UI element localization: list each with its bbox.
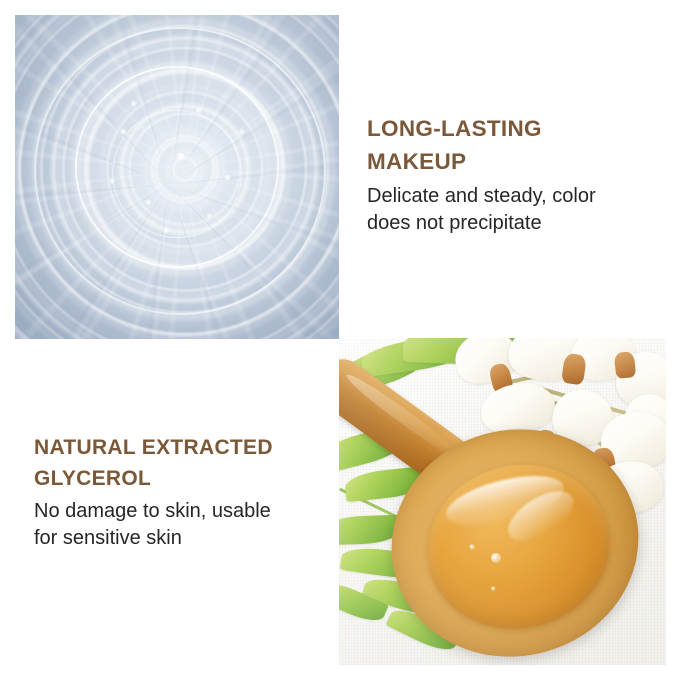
product-feature-infographic: LONG-LASTING MAKEUP Delicate and steady,… (0, 0, 679, 679)
feature-title: NATURAL EXTRACTED GLYCEROL (34, 432, 334, 494)
feature-block-natural-extracted-glycerol: NATURAL EXTRACTED GLYCEROL No damage to … (34, 432, 334, 553)
feature-description: Delicate and steady, color does not prec… (367, 183, 667, 237)
honey-bubble (491, 586, 496, 591)
water-ripple-photo (15, 15, 339, 339)
honey-pool (410, 446, 627, 648)
flower-bud (614, 351, 637, 379)
honey-bubble (490, 551, 502, 563)
water-vignette (15, 15, 339, 339)
feature-description: No damage to skin, usable for sensitive … (34, 498, 334, 552)
feature-block-long-lasting-makeup: LONG-LASTING MAKEUP Delicate and steady,… (367, 112, 667, 237)
feature-title: LONG-LASTING MAKEUP (367, 112, 667, 179)
honey-spoon-photo (339, 338, 666, 665)
honey-bubble (469, 544, 475, 550)
